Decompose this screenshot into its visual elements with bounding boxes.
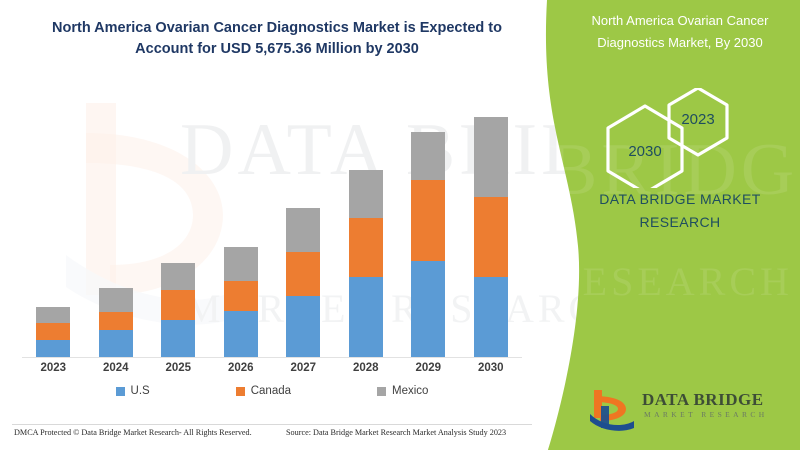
panel-brand-line1: DATA BRIDGE MARKET xyxy=(566,188,794,211)
bar-slot xyxy=(272,100,335,357)
bar-segment-US-2029 xyxy=(411,261,445,357)
stacked-bar-2029 xyxy=(411,132,445,357)
company-logo-subtext: MARKET RESEARCH xyxy=(644,410,768,419)
x-axis-label-2028: 2028 xyxy=(335,362,398,374)
x-axis-label-2027: 2027 xyxy=(272,362,335,374)
x-axis-label-2025: 2025 xyxy=(147,362,210,374)
bar-segment-Mexico-2029 xyxy=(411,132,445,180)
page-title: North America Ovarian Cancer Diagnostics… xyxy=(42,18,512,60)
panel-title: North America Ovarian Cancer Diagnostics… xyxy=(564,10,796,54)
bar-segment-US-2030 xyxy=(474,277,508,357)
bar-segment-Canada-2027 xyxy=(286,252,320,296)
company-logo-mark xyxy=(588,388,638,432)
panel-title-line1: North America Ovarian Cancer xyxy=(564,10,796,32)
bar-segment-Mexico-2027 xyxy=(286,208,320,252)
bar-segment-US-2024 xyxy=(99,330,133,357)
bar-segment-Canada-2028 xyxy=(349,218,383,277)
bar-segment-US-2023 xyxy=(36,340,70,357)
bar-segment-Mexico-2023 xyxy=(36,307,70,323)
chart-legend: U.SCanadaMexico xyxy=(22,385,522,397)
panel-brand-line2: RESEARCH xyxy=(566,211,794,234)
bar-segment-Mexico-2030 xyxy=(474,117,508,197)
stacked-bar-chart xyxy=(22,100,522,358)
x-axis-label-2029: 2029 xyxy=(397,362,460,374)
bar-segment-Canada-2029 xyxy=(411,180,445,260)
bar-segment-Mexico-2025 xyxy=(161,263,195,290)
bar-segment-Canada-2024 xyxy=(99,312,133,330)
bar-segment-US-2026 xyxy=(224,311,258,357)
x-axis-label-2023: 2023 xyxy=(22,362,85,374)
green-panel: BRIDGE RESEARCH North America Ovarian Ca… xyxy=(560,0,800,450)
stacked-bar-2027 xyxy=(286,208,320,357)
bar-slot xyxy=(335,100,398,357)
legend-item-Mexico[interactable]: Mexico xyxy=(377,385,428,397)
x-axis-labels: 20232024202520262027202820292030 xyxy=(22,362,522,374)
bar-slot xyxy=(397,100,460,357)
bar-segment-US-2025 xyxy=(161,320,195,357)
stacked-bar-2028 xyxy=(349,170,383,357)
bar-group xyxy=(22,100,522,357)
x-axis-line xyxy=(22,357,522,358)
hexagon-2023-label: 2023 xyxy=(669,111,727,128)
x-axis-label-2030: 2030 xyxy=(460,362,523,374)
panel-brand: DATA BRIDGE MARKET RESEARCH xyxy=(566,188,794,234)
legend-swatch-icon xyxy=(236,387,245,396)
stacked-bar-2023 xyxy=(36,307,70,357)
bar-segment-Mexico-2028 xyxy=(349,170,383,218)
infographic-canvas: DATA BRIDGE MARKET RESEARCH North Americ… xyxy=(0,0,800,450)
panel-title-line2: Diagnostics Market, By 2030 xyxy=(564,32,796,54)
page-title-line1: North America Ovarian Cancer Diagnostics… xyxy=(52,20,484,36)
footer-copyright: DMCA Protected © Data Bridge Market Rese… xyxy=(14,428,252,437)
company-logo: DATA BRIDGE MARKET RESEARCH xyxy=(588,388,768,434)
legend-item-Canada[interactable]: Canada xyxy=(236,385,291,397)
bar-segment-Canada-2026 xyxy=(224,281,258,311)
bar-slot xyxy=(22,100,85,357)
footer: DMCA Protected © Data Bridge Market Rese… xyxy=(0,424,560,450)
bar-segment-US-2027 xyxy=(286,296,320,357)
stacked-bar-2026 xyxy=(224,247,258,357)
bar-slot xyxy=(85,100,148,357)
panel-watermark-research: RESEARCH xyxy=(552,258,793,305)
legend-label: U.S xyxy=(131,385,150,397)
legend-item-US[interactable]: U.S xyxy=(116,385,150,397)
bar-segment-US-2028 xyxy=(349,277,383,357)
footer-divider xyxy=(12,424,532,425)
company-logo-text: DATA BRIDGE xyxy=(642,390,764,410)
legend-swatch-icon xyxy=(377,387,386,396)
bar-segment-Canada-2030 xyxy=(474,197,508,276)
legend-label: Canada xyxy=(251,385,291,397)
stacked-bar-2024 xyxy=(99,288,133,357)
x-axis-label-2026: 2026 xyxy=(210,362,273,374)
bar-segment-Mexico-2026 xyxy=(224,247,258,281)
stacked-bar-2030 xyxy=(474,117,508,357)
legend-swatch-icon xyxy=(116,387,125,396)
bar-segment-Canada-2025 xyxy=(161,290,195,320)
bar-slot xyxy=(460,100,523,357)
bar-segment-Mexico-2024 xyxy=(99,288,133,312)
bar-segment-Canada-2023 xyxy=(36,323,70,340)
bar-slot xyxy=(147,100,210,357)
hexagon-group: 2030 2023 xyxy=(570,88,790,188)
stacked-bar-2025 xyxy=(161,263,195,357)
x-axis-label-2024: 2024 xyxy=(85,362,148,374)
bar-slot xyxy=(210,100,273,357)
footer-source: Source: Data Bridge Market Research Mark… xyxy=(286,428,506,437)
legend-label: Mexico xyxy=(392,385,428,397)
hexagon-2030-label: 2030 xyxy=(608,143,682,160)
